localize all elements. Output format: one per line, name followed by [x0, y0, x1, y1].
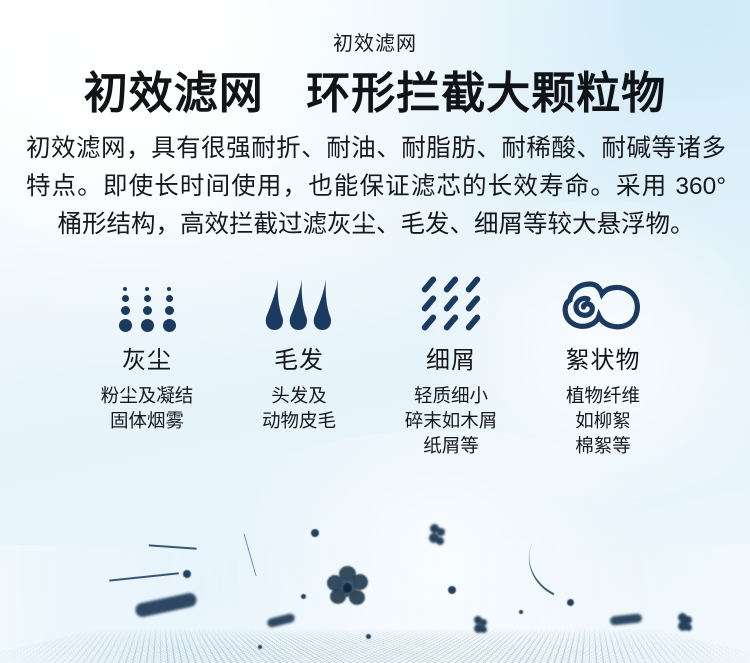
feature-item-debris: 细屑 轻质细小 碎末如木屑 纸屑等: [375, 270, 527, 458]
page-title: 初效滤网 环形拦截大颗粒物: [0, 58, 750, 122]
particle-rosette-cluster: [327, 566, 369, 608]
feature-list: 灰尘 粉尘及凝结 固体烟雾 毛发 头发及 动物皮毛: [0, 244, 750, 458]
dust-dots-icon: [71, 270, 223, 332]
feature-desc-debris: 轻质细小 碎末如木屑 纸屑等: [375, 376, 527, 458]
particle-dot-b: [183, 570, 191, 578]
particle-dot-f: [519, 610, 523, 614]
page-title-part-one: 初效滤网: [84, 69, 264, 118]
dust-dot-grid: [114, 287, 180, 332]
debris-dash-grid: [418, 275, 484, 332]
feature-desc-dust: 粉尘及凝结 固体烟雾: [71, 376, 223, 433]
feature-item-dust: 灰尘 粉尘及凝结 固体烟雾: [71, 270, 223, 433]
feature-title-hair: 毛发: [223, 346, 375, 376]
feature-desc-lint: 植物纤维 如柳絮 棉絮等: [527, 376, 679, 458]
particle-dot-d: [448, 586, 456, 594]
particle-clump-top: [428, 524, 446, 546]
feature-item-lint: 絮状物 植物纤维 如柳絮 棉絮等: [527, 270, 679, 458]
particle-scene: [0, 488, 750, 663]
particle-dot-a: [311, 529, 319, 537]
eyebrow-title: 初效滤网: [0, 0, 750, 58]
page-title-part-two: 环形拦截大颗粒物: [306, 69, 666, 118]
feature-title-dust: 灰尘: [71, 346, 223, 376]
lint-cloud-icon: [527, 270, 679, 332]
debris-dashes-icon: [375, 270, 527, 332]
particle-dot-c: [301, 594, 306, 599]
filter-screen-promo-page: 初效滤网 初效滤网 环形拦截大颗粒物 初效滤网，具有很强耐折、耐油、耐脂肪、耐稀…: [0, 0, 750, 663]
feature-item-hair: 毛发 头发及 动物皮毛: [223, 270, 375, 433]
feature-desc-hair: 头发及 动物皮毛: [223, 376, 375, 433]
particle-dot-e: [567, 599, 574, 606]
particle-dot-h: [258, 645, 262, 649]
hair-strands-icon: [223, 270, 375, 332]
particle-clump-right: [676, 613, 694, 633]
mesh-edge-fade: [0, 545, 750, 663]
feature-title-lint: 絮状物: [527, 346, 679, 376]
particle-clump-bottom: [473, 616, 488, 634]
particle-dot-g: [366, 634, 371, 639]
description-paragraph: 初效滤网，具有很强耐折、耐油、耐脂肪、耐稀酸、耐碱等诸多特点。即使长时间使用，也…: [0, 122, 750, 244]
feature-title-debris: 细屑: [375, 346, 527, 376]
header-text-block: 初效滤网 初效滤网 环形拦截大颗粒物 初效滤网，具有很强耐折、耐油、耐脂肪、耐稀…: [0, 0, 750, 244]
